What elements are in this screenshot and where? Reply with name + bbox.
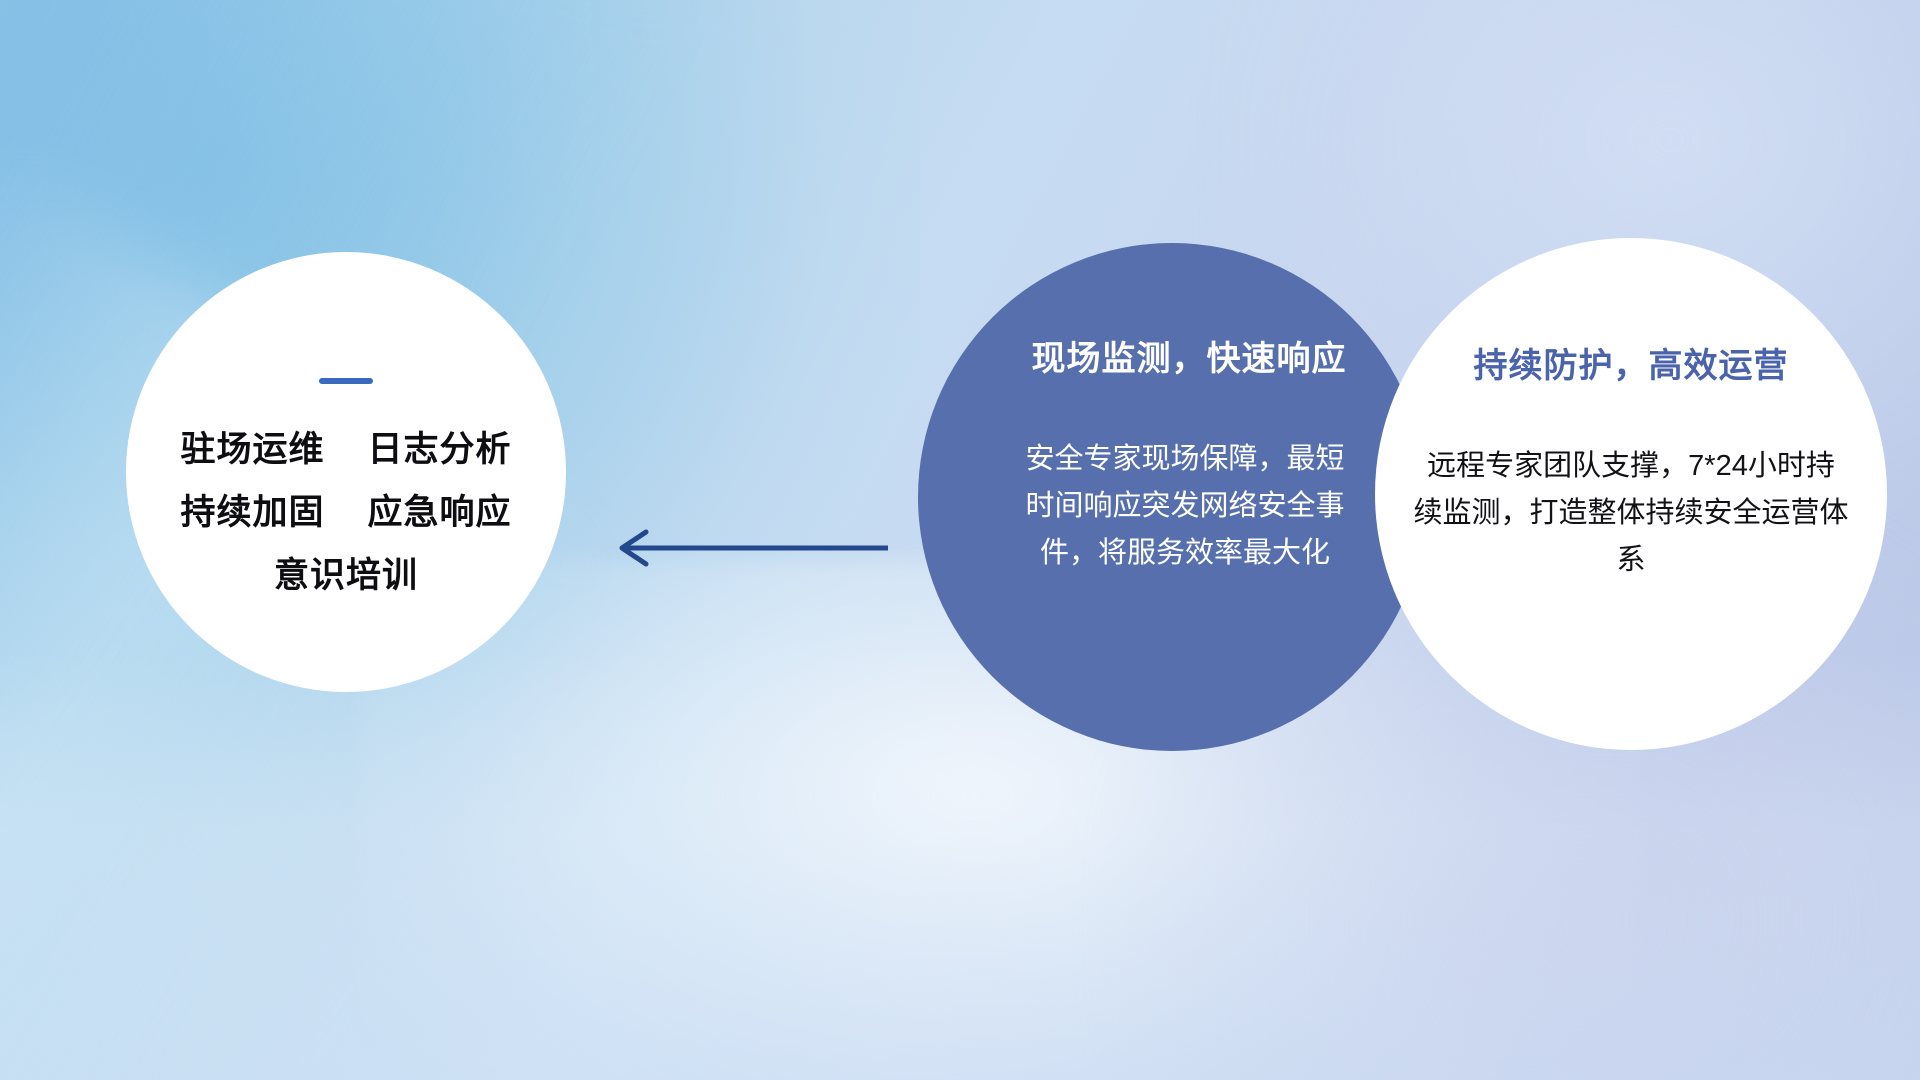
- onsite-monitoring-title: 现场监测，快速响应: [1032, 331, 1347, 380]
- continuous-protection-body: 远程专家团队支撑，7*24小时持续监测，打造整体持续安全运营体系: [1413, 443, 1849, 584]
- continuous-protection-title: 持续防护，高效运营: [1474, 338, 1789, 387]
- service-capabilities-list: 驻场运维 日志分析 持续加固 应急响应 意识培训: [181, 432, 512, 593]
- arrow-left-icon: [600, 520, 890, 576]
- list-item: 持续加固 应急响应: [181, 495, 512, 530]
- slide-canvas: 现场监测，快速响应 安全专家现场保障，最短时间响应突发网络安全事件，将服务效率最…: [0, 0, 1920, 1080]
- continuous-protection-circle[interactable]: 持续防护，高效运营 远程专家团队支撑，7*24小时持续监测，打造整体持续安全运营…: [1375, 238, 1887, 750]
- list-item: 驻场运维 日志分析: [181, 432, 512, 467]
- onsite-monitoring-circle[interactable]: 现场监测，快速响应 安全专家现场保障，最短时间响应突发网络安全事件，将服务效率最…: [918, 243, 1426, 751]
- title-divider-dash: [319, 378, 373, 384]
- list-item: 意识培训: [274, 558, 418, 593]
- service-capabilities-circle[interactable]: 驻场运维 日志分析 持续加固 应急响应 意识培训: [126, 252, 566, 692]
- onsite-monitoring-body: 安全专家现场保障，最短时间响应突发网络安全事件，将服务效率最大化: [1020, 436, 1350, 577]
